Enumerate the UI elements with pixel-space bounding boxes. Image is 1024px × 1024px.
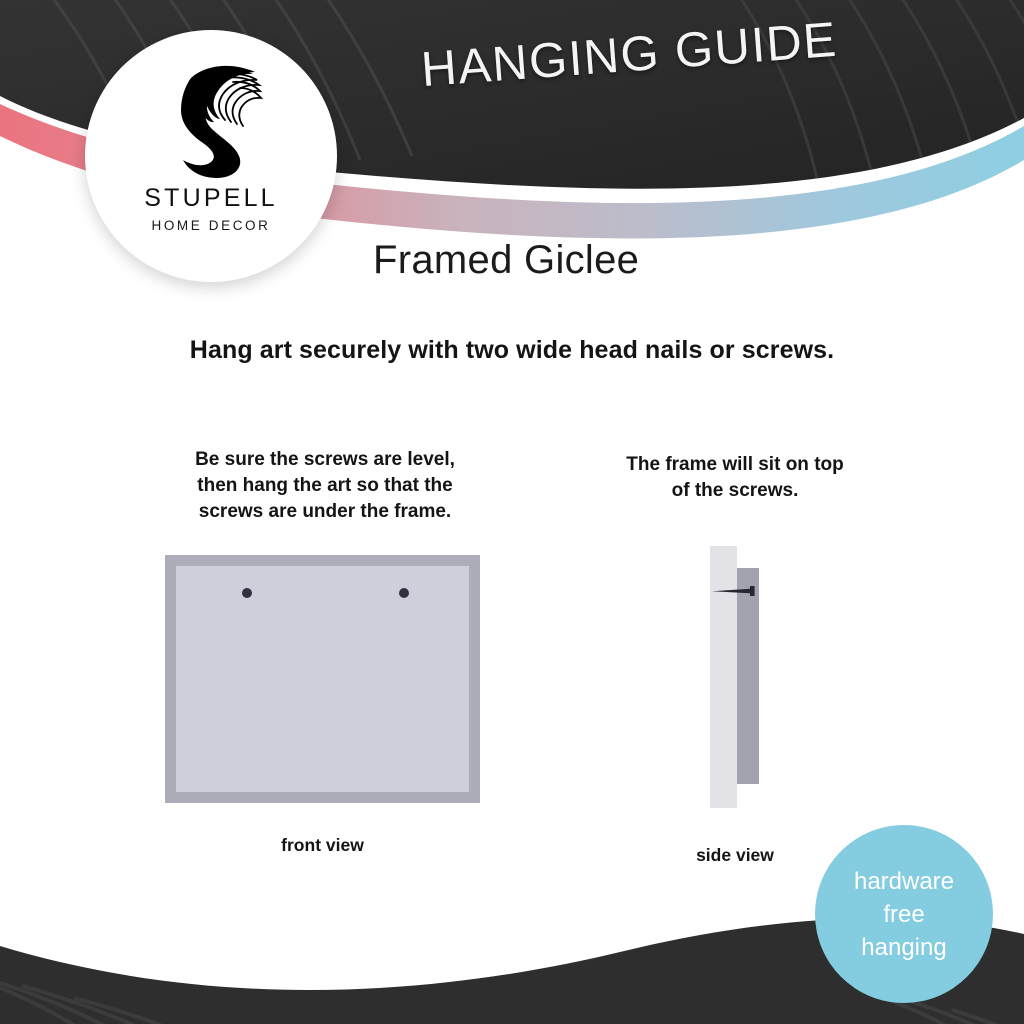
brand-tagline: HOME DECOR xyxy=(151,218,270,233)
side-view-diagram xyxy=(705,546,825,808)
hardware-free-hanging-badge: hardware free hanging xyxy=(815,825,993,1003)
front-view-caption: Be sure the screws are level, then hang … xyxy=(155,447,495,525)
front-view-caption-line-1: Be sure the screws are level, xyxy=(155,447,495,473)
brand-name: STUPELL xyxy=(144,184,278,213)
side-view-caption-line-2: of the screws. xyxy=(585,478,885,504)
main-instruction-text: Hang art securely with two wide head nai… xyxy=(0,336,1024,365)
front-view-label: front view xyxy=(165,835,480,856)
front-view-diagram xyxy=(165,555,480,803)
side-view-caption-line-1: The frame will sit on top xyxy=(585,452,885,478)
nail-icon xyxy=(712,586,760,596)
hanging-guide-page: HANGING GUIDE STUPELL HOME DECOR Framed … xyxy=(0,0,1024,1024)
brand-logo-badge: STUPELL HOME DECOR xyxy=(85,30,337,282)
badge-line-1: hardware xyxy=(854,865,954,898)
side-view-label: side view xyxy=(645,845,825,866)
product-type-label: Framed Giclee xyxy=(373,238,639,283)
screw-dot-left xyxy=(242,588,252,598)
badge-line-2: free xyxy=(883,898,924,931)
front-view-caption-line-2: then hang the art so that the xyxy=(155,473,495,499)
front-view-caption-line-3: screws are under the frame. xyxy=(155,499,495,525)
front-view-art-area xyxy=(176,566,469,792)
screw-dot-right xyxy=(399,588,409,598)
side-view-frame xyxy=(737,568,759,784)
badge-line-3: hanging xyxy=(861,931,946,964)
stupell-s-swoosh-logo-icon xyxy=(147,54,275,182)
side-view-caption: The frame will sit on top of the screws. xyxy=(585,452,885,504)
